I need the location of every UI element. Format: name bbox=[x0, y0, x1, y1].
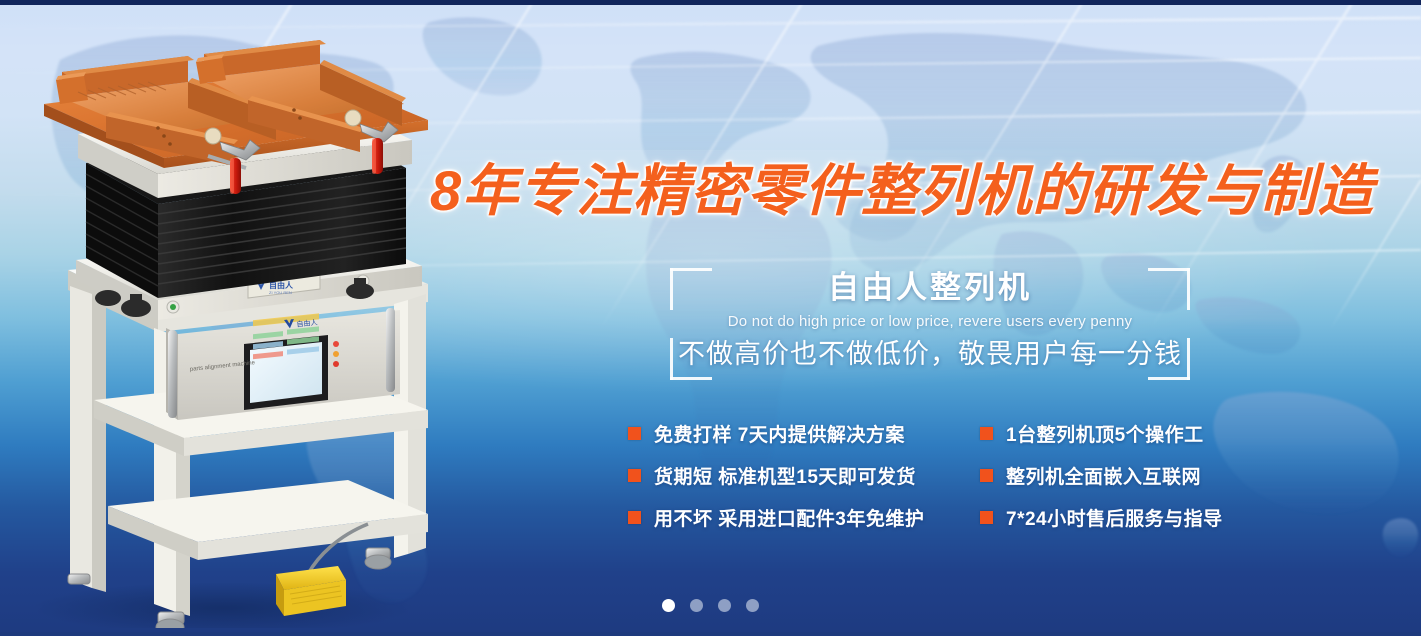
slogan-english: Do not do high price or low price, rever… bbox=[670, 310, 1190, 334]
carousel-dot-2[interactable] bbox=[690, 599, 703, 612]
svg-text:ZI YOU REN: ZI YOU REN bbox=[269, 290, 292, 295]
page-title: 8年专注精密零件整列机的研发与制造 bbox=[430, 152, 1415, 230]
slogan-chinese: 不做高价也不做低价，敬畏用户每一分钱 bbox=[670, 332, 1190, 376]
feature-list: 免费打样 7天内提供解决方案 货期短 标准机型15天即可发货 用不坏 采用进口配… bbox=[628, 412, 1268, 538]
feature-label: 货期短 标准机型15天即可发货 bbox=[654, 462, 916, 489]
carousel-dot-3[interactable] bbox=[718, 599, 731, 612]
top-border-strip bbox=[0, 0, 1421, 5]
carousel-dot-1[interactable] bbox=[662, 599, 675, 612]
feature-column-left: 免费打样 7天内提供解决方案 货期短 标准机型15天即可发货 用不坏 采用进口配… bbox=[628, 412, 980, 538]
feature-label: 整列机全面嵌入互联网 bbox=[1006, 462, 1201, 489]
carousel-pagination bbox=[0, 597, 1421, 613]
brand-name: 自由人整列机 bbox=[670, 266, 1190, 310]
hero-banner: parts alignment machine 自由人 bbox=[0, 0, 1421, 636]
feature-item: 用不坏 采用进口配件3年免维护 bbox=[628, 496, 980, 538]
product-photo: parts alignment machine 自由人 bbox=[8, 8, 458, 628]
bullet-square-icon bbox=[628, 511, 641, 524]
feature-label: 免费打样 7天内提供解决方案 bbox=[654, 420, 905, 447]
bullet-square-icon bbox=[628, 427, 641, 440]
feature-item: 整列机全面嵌入互联网 bbox=[980, 454, 1268, 496]
carousel-dot-4[interactable] bbox=[746, 599, 759, 612]
bullet-square-icon bbox=[980, 511, 993, 524]
feature-label: 用不坏 采用进口配件3年免维护 bbox=[654, 504, 924, 531]
feature-item: 1台整列机顶5个操作工 bbox=[980, 412, 1268, 454]
bullet-square-icon bbox=[980, 469, 993, 482]
bottom-border-strip bbox=[0, 632, 1421, 636]
feature-item: 免费打样 7天内提供解决方案 bbox=[628, 412, 980, 454]
slogan-block: 自由人整列机 Do not do high price or low price… bbox=[670, 268, 1190, 380]
bullet-square-icon bbox=[628, 469, 641, 482]
feature-item: 7*24小时售后服务与指导 bbox=[980, 496, 1268, 538]
feature-column-right: 1台整列机顶5个操作工 整列机全面嵌入互联网 7*24小时售后服务与指导 bbox=[980, 412, 1268, 538]
feature-label: 1台整列机顶5个操作工 bbox=[1006, 420, 1204, 447]
bullet-square-icon bbox=[980, 427, 993, 440]
feature-item: 货期短 标准机型15天即可发货 bbox=[628, 454, 980, 496]
feature-label: 7*24小时售后服务与指导 bbox=[1006, 504, 1223, 531]
